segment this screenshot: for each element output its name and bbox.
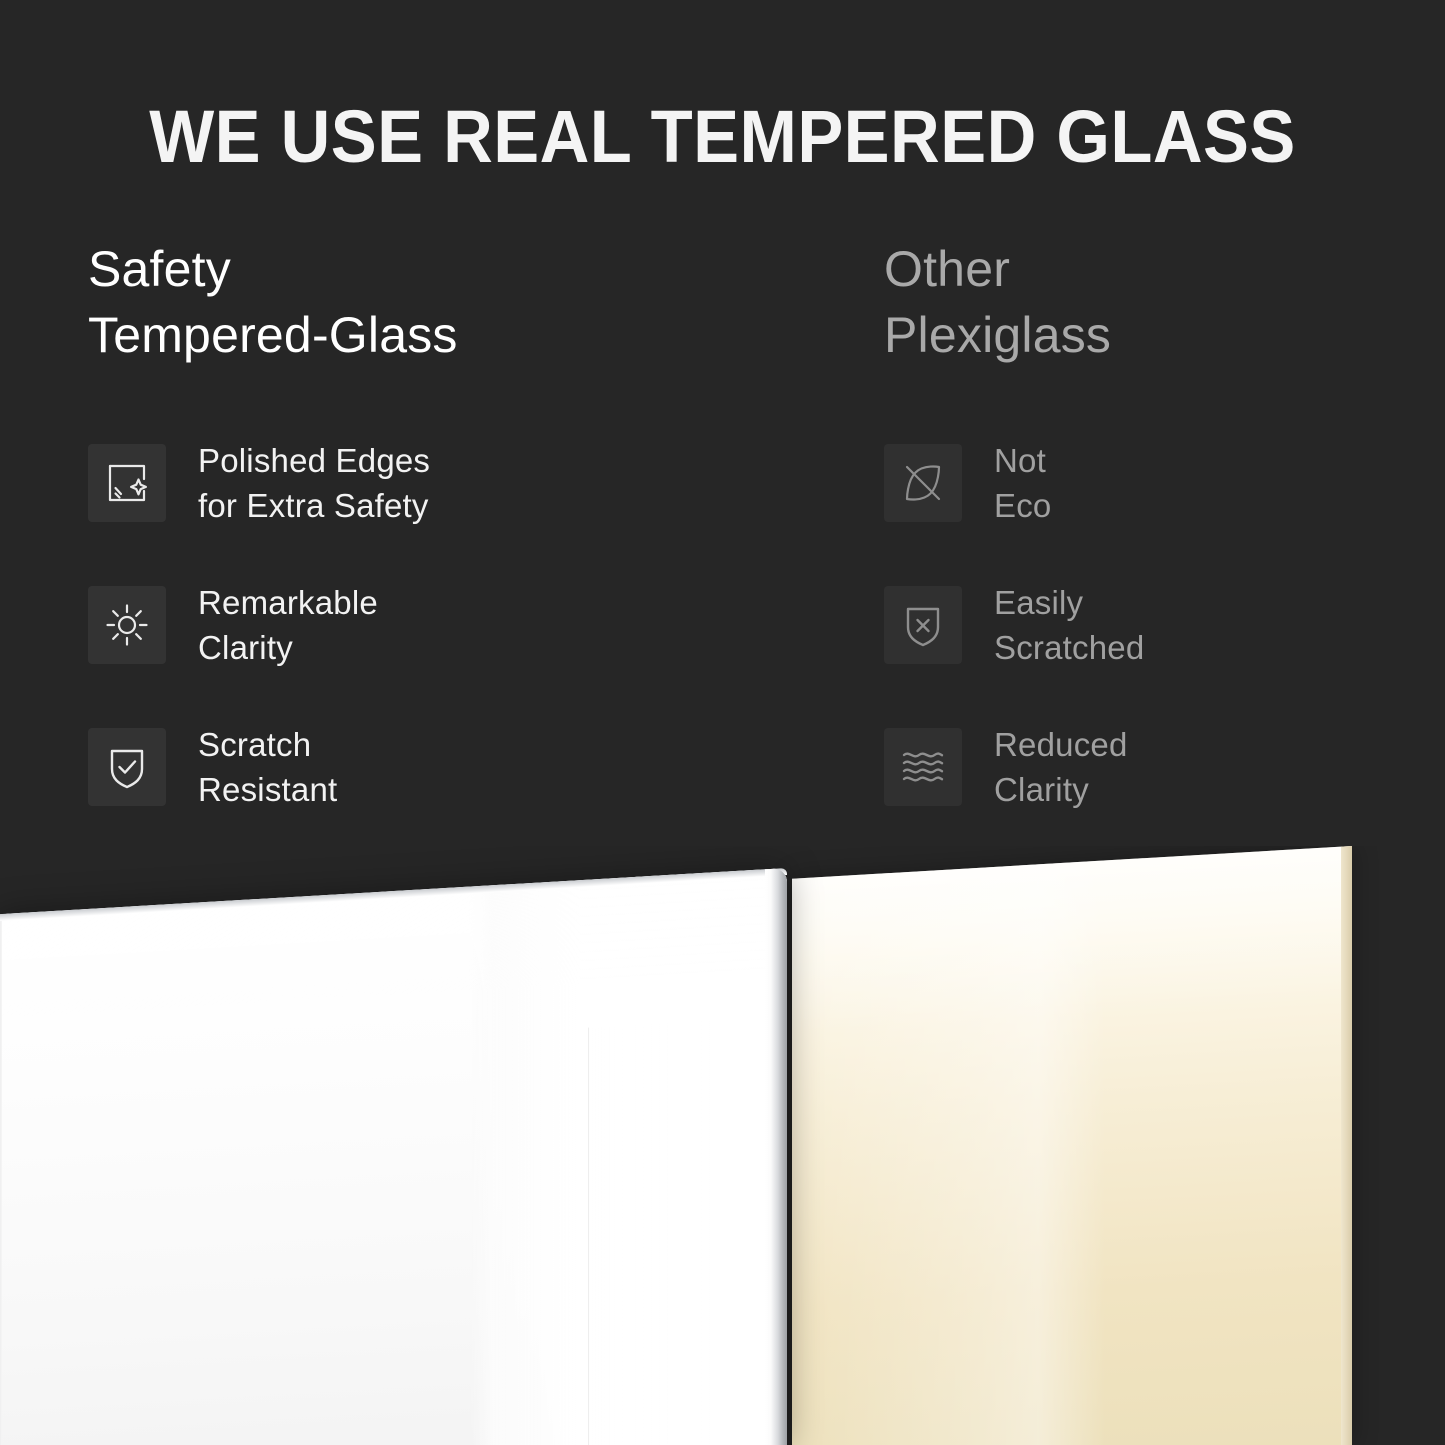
feature-not-eco: Not Eco [884,444,1404,522]
product-comparison-infographic: WE USE REAL TEMPERED GLASS Safety Temper… [0,0,1445,1445]
feature-reduced-clarity: Reduced Clarity [884,728,1404,806]
column-heading-plexiglass: Other Plexiglass [884,236,1404,368]
yellowed-plexiglass-panel [792,846,1352,1445]
feature-label: Easily Scratched [994,580,1144,670]
tempered-glass-inner-reflection [588,1018,757,1445]
leaf-crossed-out-icon [884,444,962,522]
shield-check-icon [88,728,166,806]
column-heading-tempered-glass: Safety Tempered-Glass [88,236,808,368]
feature-label: Not Eco [994,438,1051,528]
feature-scratch-resistant: Scratch Resistant [88,728,808,806]
comparison-column-tempered-glass: Safety Tempered-Glass Polished Edges for… [88,236,808,368]
feature-label: Scratch Resistant [198,722,337,812]
feature-remarkable-clarity: Remarkable Clarity [88,586,808,664]
feature-easily-scratched: Easily Scratched [884,586,1404,664]
shield-x-icon [884,586,962,664]
wavy-lines-icon [884,728,962,806]
feature-list-tempered-glass: Polished Edges for Extra Safety [88,444,808,806]
feature-label: Reduced Clarity [994,722,1128,812]
plexiglass-surface-reflection [792,846,1352,1445]
clear-tempered-glass-panel [0,868,787,1445]
glass-panel-comparison-photo [0,846,1445,1445]
sun-brightness-icon [88,586,166,664]
feature-label: Polished Edges for Extra Safety [198,438,430,528]
plexiglass-right-edge [1341,846,1352,1445]
tempered-glass-left-polished-edge [0,914,2,1445]
feature-list-plexiglass: Not Eco Easily Scratched [884,444,1404,806]
feature-label: Remarkable Clarity [198,580,378,670]
comparison-column-plexiglass: Other Plexiglass Not Eco [884,236,1404,368]
polished-pane-sparkle-icon [88,444,166,522]
page-title: WE USE REAL TEMPERED GLASS [51,94,1395,180]
tempered-glass-right-polished-edge [765,868,787,1445]
feature-polished-edges: Polished Edges for Extra Safety [88,444,808,522]
